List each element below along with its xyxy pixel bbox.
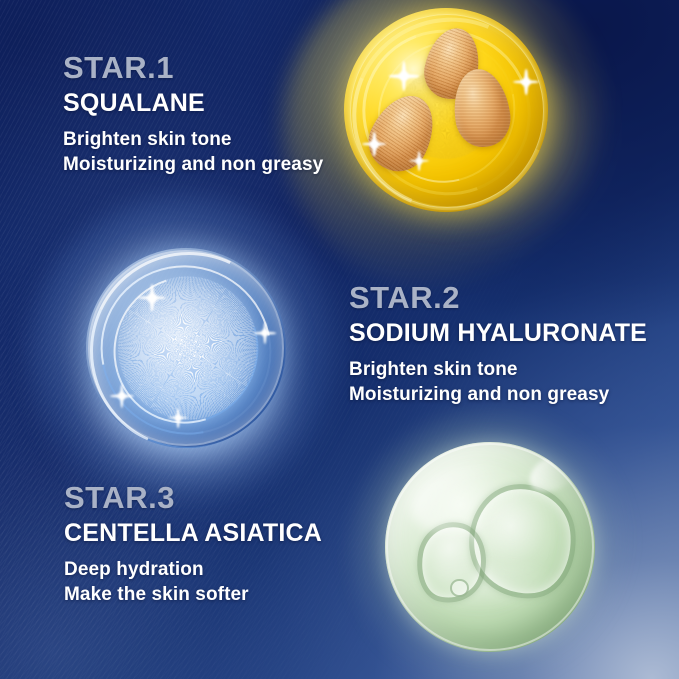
star-3-description-line-1: Deep hydration (64, 558, 322, 583)
infographic-canvas: STAR.1 SQUALANE Brighten skin tone Moist… (0, 0, 679, 679)
star-3-description-line-2: Make the skin softer (64, 583, 322, 608)
hyaluronate-orb-body (86, 248, 286, 448)
hyaluronate-orb-shell (88, 250, 284, 446)
centella-orb-rim (386, 443, 594, 651)
squalane-orb-body (344, 8, 548, 212)
star-2-ingredient-name: SODIUM HYALURONATE (349, 320, 647, 346)
star-3-label: STAR.3 (64, 482, 322, 513)
star-3-ingredient-name: CENTELLA ASIATICA (64, 520, 322, 546)
centella-orb-body (385, 442, 595, 652)
star-2-description-line-2: Moisturizing and non greasy (349, 383, 647, 408)
star-1-ingredient-name: SQUALANE (63, 90, 323, 116)
star-2-description-line-1: Brighten skin tone (349, 358, 647, 383)
star-1-text-block: STAR.1 SQUALANE Brighten skin tone Moist… (63, 52, 323, 178)
squalane-orb-rim (350, 14, 544, 208)
star-2-label: STAR.2 (349, 282, 647, 313)
centella-asiatica-orb (385, 442, 595, 652)
star-1-description-line-2: Moisturizing and non greasy (63, 153, 323, 178)
star-3-text-block: STAR.3 CENTELLA ASIATICA Deep hydration … (64, 482, 322, 608)
star-2-text-block: STAR.2 SODIUM HYALURONATE Brighten skin … (349, 282, 647, 408)
star-1-label: STAR.1 (63, 52, 323, 83)
star-1-description-line-1: Brighten skin tone (63, 128, 323, 153)
squalane-orb (344, 8, 548, 212)
sodium-hyaluronate-orb (86, 248, 286, 448)
